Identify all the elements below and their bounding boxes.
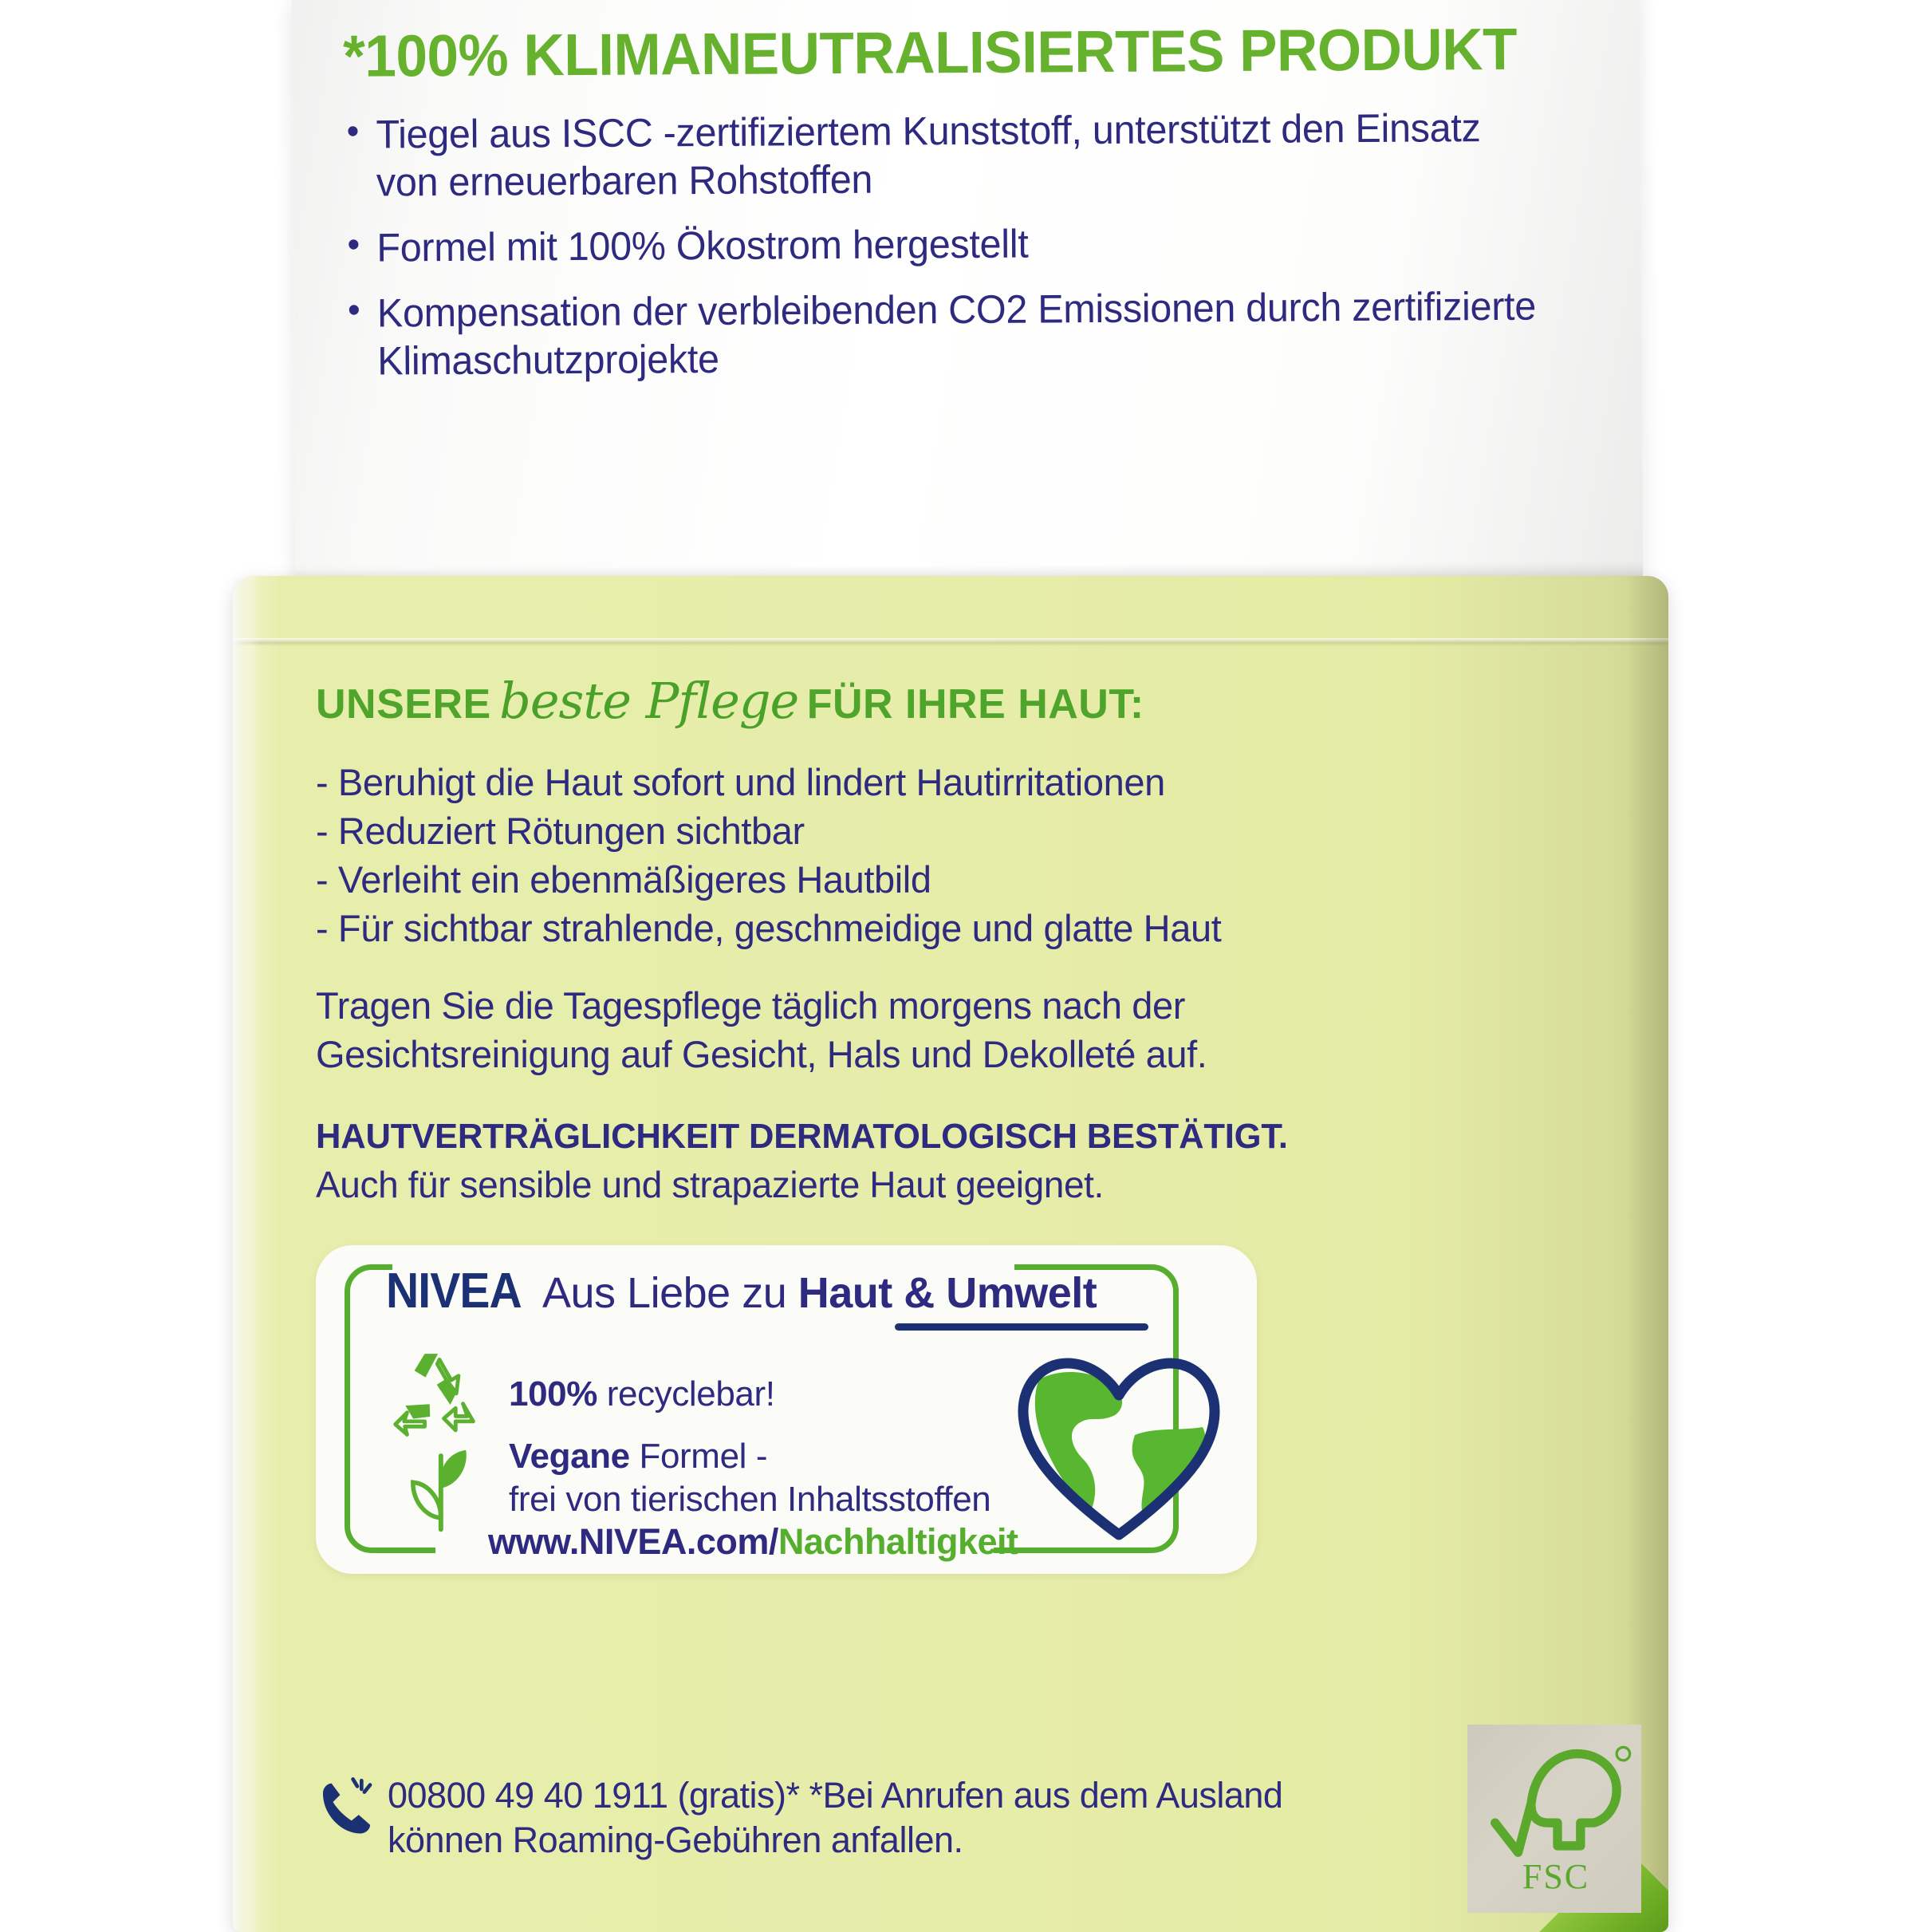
- badge-tagline-underline: [895, 1323, 1148, 1331]
- dermatological-heading: HAUTVERTRÄGLICHKEIT DERMATOLOGISCH BESTÄ…: [316, 1116, 1585, 1158]
- section-heading: UNSERE beste Pflege FÜR IHRE HAUT:: [316, 676, 1598, 726]
- list-item: - Reduziert Rötungen sichtbar: [316, 806, 1598, 855]
- usage-instructions: Tragen Sie die Tagespflege täglich morge…: [316, 981, 1313, 1078]
- claim-recyclable-text: 100% recyclebar!: [509, 1373, 775, 1416]
- list-item: - Beruhigt die Haut sofort und lindert H…: [316, 758, 1598, 806]
- fsc-corner: FSC: [1405, 1669, 1668, 1932]
- dermatological-subtext: Auch für sensible und strapazierte Haut …: [316, 1162, 1598, 1208]
- claim-vegan-rest: Formel -: [630, 1437, 767, 1476]
- hotline-text: 00800 49 40 1911 (gratis)* *Bei Anrufen …: [388, 1773, 1361, 1863]
- sustainability-url[interactable]: www.NIVEA.com/Nachhaltigkeit: [488, 1521, 1018, 1563]
- url-part-www: www.: [488, 1521, 579, 1562]
- url-part-domain: NIVEA.com/: [579, 1521, 778, 1562]
- section-heading-pre: UNSERE: [316, 681, 491, 727]
- claim-recyclable: 100% recyclebar!: [392, 1347, 775, 1441]
- badge-header: NIVEA Aus Liebe zu Haut & Umwelt: [386, 1263, 1097, 1319]
- earth-heart-icon: [1011, 1347, 1227, 1547]
- benefit-list: - Beruhigt die Haut sofort und lindert H…: [316, 758, 1598, 952]
- badge-tagline-bold: Haut & Umwelt: [798, 1269, 1097, 1317]
- fsc-label: FSC: [1488, 1856, 1624, 1897]
- badge-tagline-plain: Aus Liebe zu: [533, 1269, 797, 1317]
- leaf-icon: [392, 1438, 486, 1536]
- list-item: Kompensation der verbleibenden CO2 Emiss…: [345, 282, 1546, 385]
- phone-icon: [316, 1775, 384, 1847]
- list-item: - Für sichtbar strahlende, geschmeidige …: [316, 904, 1598, 952]
- list-item: - Verleiht ein ebenmäßigeres Hautbild: [316, 855, 1598, 904]
- section-heading-post: FÜR IHRE HAUT:: [807, 681, 1144, 727]
- recycle-icon: [392, 1347, 486, 1441]
- list-item: Tiegel aus ISCC -zertifiziertem Kunststo…: [344, 104, 1545, 207]
- claim-recyclable-bold: 100%: [509, 1374, 597, 1414]
- claim-vegan-bold: Vegane: [509, 1437, 630, 1476]
- url-part-path: Nachhaltigkeit: [778, 1521, 1018, 1562]
- carton-left-highlight: [233, 576, 260, 1932]
- climate-neutral-leaflet: *100% KLIMANEUTRALISIERTES PRODUKT Tiege…: [292, 0, 1644, 585]
- leaflet-bullet-list: Tiegel aus ISCC -zertifiziertem Kunststo…: [344, 104, 1583, 385]
- hotline-block: 00800 49 40 1911 (gratis)* *Bei Anrufen …: [316, 1773, 1573, 1863]
- leaflet-title: *100% KLIMANEUTRALISIERTES PRODUKT: [343, 19, 1531, 87]
- list-item: Formel mit 100% Ökostrom hergestellt: [345, 217, 1546, 272]
- product-packaging-scene: *100% KLIMANEUTRALISIERTES PRODUKT Tiege…: [0, 0, 1914, 1914]
- claim-vegan-line2: frei von tierischen Inhaltsstoffen: [509, 1480, 990, 1519]
- section-heading-script: beste Pflege: [494, 672, 803, 730]
- nivea-logo: NIVEA: [386, 1263, 522, 1319]
- claim-recyclable-rest: recyclebar!: [597, 1374, 775, 1414]
- product-carton: UNSERE beste Pflege FÜR IHRE HAUT: - Ber…: [233, 576, 1668, 1932]
- claim-vegan-text: Vegane Formel - frei von tierischen Inha…: [509, 1435, 990, 1520]
- sustainability-badge: NIVEA Aus Liebe zu Haut & Umwelt: [316, 1245, 1257, 1574]
